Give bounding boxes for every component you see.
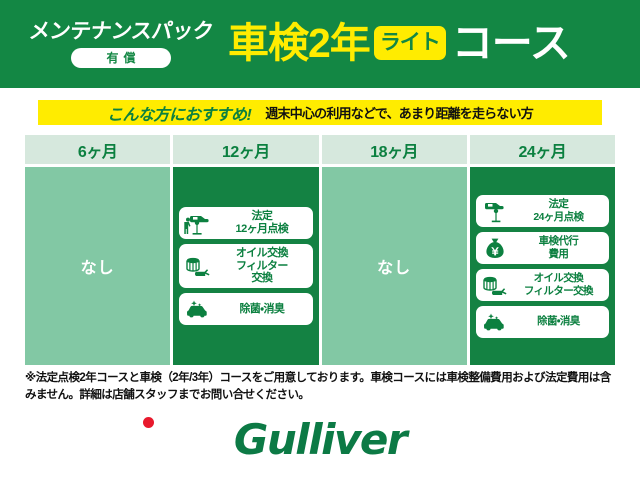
column-header: 24ヶ月 xyxy=(470,135,615,164)
column-body: 法定 12ヶ月点検 オイル交換 フィルター xyxy=(173,167,318,365)
service-item-label: オイル交換 フィルター 交換 xyxy=(217,247,308,285)
table-column-24-months: 24ヶ月 法定 24ヶ月点検 xyxy=(470,135,615,365)
header-banner: メンテナンスパック 有償 車検2年 ライト コース xyxy=(0,0,640,88)
car-sanitize-icon xyxy=(183,296,213,322)
maintenance-pack-title: メンテナンスパック xyxy=(28,21,215,42)
service-item-card: 車検代行 費用 xyxy=(476,232,609,264)
service-item-card: 法定 24ヶ月点検 xyxy=(476,195,609,227)
no-service-label: なし xyxy=(377,254,411,278)
service-item-label: 法定 12ヶ月点検 xyxy=(217,210,308,235)
service-item-card: 除菌・消臭 xyxy=(179,293,312,325)
service-item-card: 除菌・消臭 xyxy=(476,306,609,338)
no-service-label: なし xyxy=(81,254,115,278)
oil-filter-change-icon xyxy=(480,272,510,298)
money-bag-yen-icon xyxy=(480,235,510,261)
car-lift-inspection-icon xyxy=(480,198,510,224)
brand-logo: Gulliver xyxy=(0,415,640,464)
gulliver-logo-text: Gulliver xyxy=(234,415,406,464)
service-item-label: 車検代行 費用 xyxy=(514,235,605,259)
service-item-card: オイル交換 フィルター交換 xyxy=(476,269,609,301)
header-headline-group: 車検2年 ライト コース xyxy=(228,23,640,66)
column-body: なし xyxy=(322,167,467,365)
column-header: 18ヶ月 xyxy=(322,135,467,164)
table-column-6-months: 6ヶ月 なし xyxy=(25,135,170,365)
headline-main-text: 車検2年 xyxy=(228,23,370,64)
oil-filter-change-icon xyxy=(183,253,213,279)
headline-course-text: コース xyxy=(452,23,570,64)
recommendation-bar: こんな方におすすめ! 週末中心の利用などで、あまり距離を走らない方 xyxy=(38,100,602,125)
service-item-label: オイル交換 フィルター交換 xyxy=(514,272,605,296)
column-header: 6ヶ月 xyxy=(25,135,170,164)
service-item-card: オイル交換 フィルター 交換 xyxy=(179,244,312,288)
column-body: なし xyxy=(25,167,170,365)
car-lift-inspection-icon xyxy=(183,210,213,236)
gulliver-logo-dot xyxy=(143,417,154,428)
recommendation-description: 週末中心の利用などで、あまり距離を走らない方 xyxy=(265,103,533,122)
paid-badge: 有償 xyxy=(71,48,170,68)
column-body: 法定 24ヶ月点検 車検代行 費用 xyxy=(470,167,615,365)
footnote-text: ※法定点検2年コースと車検（2年/3年）コースをご用意しております。車検コースに… xyxy=(25,370,621,403)
headline-light-badge: ライト xyxy=(374,26,446,60)
service-item-label: 除菌・消臭 xyxy=(217,303,308,316)
car-sanitize-icon xyxy=(480,309,510,335)
service-item-card: 法定 12ヶ月点検 xyxy=(179,207,312,239)
service-item-label: 法定 24ヶ月点検 xyxy=(514,198,605,222)
header-pack-group: メンテナンスパック 有償 xyxy=(0,21,228,68)
service-item-label: 除菌・消臭 xyxy=(514,315,605,327)
table-column-18-months: 18ヶ月 なし xyxy=(322,135,467,365)
column-header: 12ヶ月 xyxy=(173,135,318,164)
table-column-12-months: 12ヶ月 法定 xyxy=(173,135,318,365)
maintenance-schedule-table: 6ヶ月 なし 12ヶ月 xyxy=(25,135,615,365)
recommendation-label: こんな方におすすめ! xyxy=(107,101,251,125)
